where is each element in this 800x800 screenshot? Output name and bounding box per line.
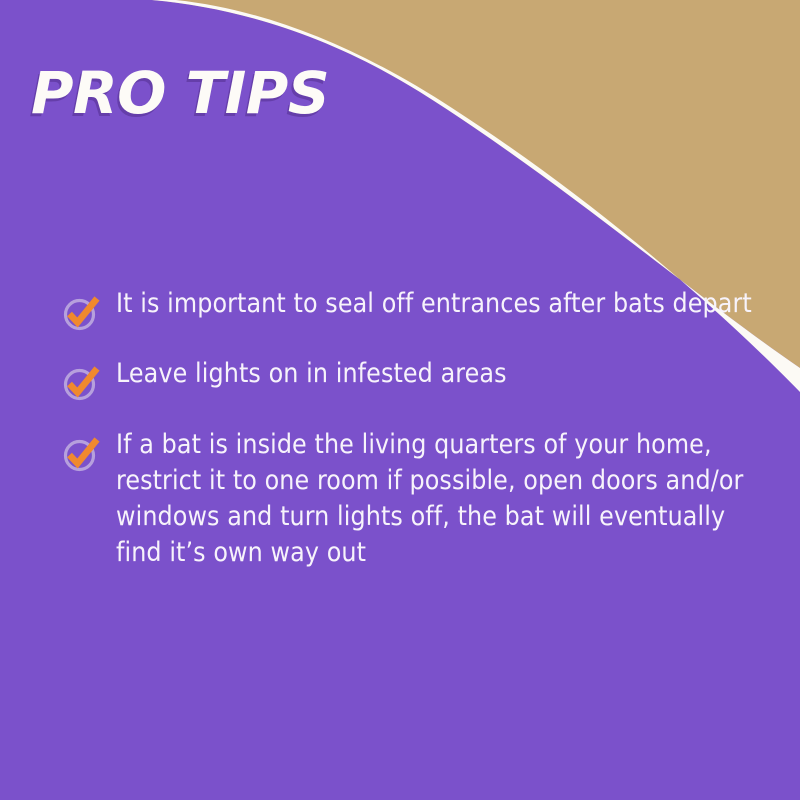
list-item: If a bat is inside the living quarters o…: [62, 427, 752, 572]
tip-text: If a bat is inside the living quarters o…: [116, 427, 752, 572]
check-circle-icon: [62, 362, 102, 402]
list-item: Leave lights on in infested areas: [62, 356, 752, 392]
check-circle-icon: [62, 292, 102, 332]
pro-tips-poster: PRO TIPS It is important to seal off ent…: [0, 0, 800, 800]
tips-list: It is important to seal off entrances af…: [62, 286, 752, 572]
list-item: It is important to seal off entrances af…: [62, 286, 752, 322]
tip-text: Leave lights on in infested areas: [116, 356, 752, 392]
tip-text: It is important to seal off entrances af…: [116, 286, 752, 322]
check-circle-icon: [62, 433, 102, 473]
page-title: PRO TIPS: [31, 64, 329, 122]
